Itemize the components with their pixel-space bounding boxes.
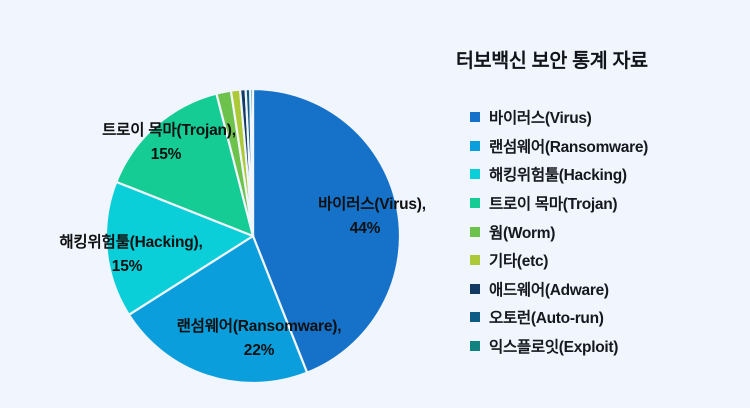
slice-label-ransomware-name: 랜섬웨어(Ransomware), — [177, 318, 342, 335]
legend-color-swatch — [470, 284, 480, 294]
slice-label-ransomware: 랜섬웨어(Ransomware), 22% — [160, 315, 358, 363]
slice-label-ransomware-percent: 22% — [160, 339, 358, 363]
slice-label-trojan-percent: 15% — [82, 143, 256, 167]
slice-label-virus: 바이러스(Virus), 44% — [306, 193, 438, 241]
pie-chart-area: 바이러스(Virus), 44% 랜섬웨어(Ransomware), 22% 해… — [0, 0, 440, 408]
legend-item-label: 웜(Worm) — [489, 221, 555, 243]
legend-item-label: 트로이 목마(Trojan) — [489, 192, 617, 214]
legend-item-label: 오토런(Auto-run) — [489, 306, 604, 328]
legend-item[interactable]: 바이러스(Virus) — [470, 103, 750, 132]
legend-item[interactable]: 트로이 목마(Trojan) — [470, 189, 750, 218]
legend-color-swatch — [470, 312, 480, 322]
legend-color-swatch — [470, 112, 480, 122]
legend-color-swatch — [470, 141, 480, 151]
chart-canvas: 바이러스(Virus), 44% 랜섬웨어(Ransomware), 22% 해… — [0, 0, 750, 408]
legend-color-swatch — [470, 169, 480, 179]
page-title: 터보백신 보안 통계 자료 — [456, 44, 648, 73]
legend-item-label: 기타(etc) — [489, 249, 548, 271]
legend-item-label: 해킹위험툴(Hacking) — [489, 163, 627, 185]
slice-label-hacking-percent: 15% — [36, 255, 226, 279]
legend-item[interactable]: 기타(etc) — [470, 246, 750, 275]
right-panel: 터보백신 보안 통계 자료 바이러스(Virus)랜섬웨어(Ransomware… — [440, 0, 750, 408]
slice-label-trojan: 트로이 목마(Trojan), 15% — [82, 119, 256, 167]
legend-color-swatch — [470, 227, 480, 237]
legend-item-label: 랜섬웨어(Ransomware) — [489, 135, 648, 157]
legend-color-swatch — [470, 198, 480, 208]
slice-label-trojan-name: 트로이 목마(Trojan), — [102, 122, 236, 139]
slice-label-virus-percent: 44% — [306, 217, 438, 241]
legend-item[interactable]: 오토런(Auto-run) — [470, 303, 750, 332]
legend-item-label: 바이러스(Virus) — [489, 106, 592, 128]
legend-color-swatch — [470, 255, 480, 265]
slice-label-hacking: 해킹위험툴(Hacking), 15% — [36, 231, 226, 279]
slice-label-hacking-name: 해킹위험툴(Hacking), — [59, 234, 202, 251]
legend-item[interactable]: 애드웨어(Adware) — [470, 275, 750, 304]
legend-item-label: 익스플로잇(Exploit) — [489, 335, 618, 357]
chart-legend: 바이러스(Virus)랜섬웨어(Ransomware)해킹위험툴(Hacking… — [470, 103, 750, 360]
legend-item[interactable]: 익스플로잇(Exploit) — [470, 332, 750, 361]
legend-item[interactable]: 해킹위험툴(Hacking) — [470, 160, 750, 189]
slice-label-virus-name: 바이러스(Virus), — [318, 196, 426, 213]
legend-item[interactable]: 랜섬웨어(Ransomware) — [470, 132, 750, 161]
legend-item-label: 애드웨어(Adware) — [489, 278, 609, 300]
legend-color-swatch — [470, 341, 480, 351]
legend-item[interactable]: 웜(Worm) — [470, 217, 750, 246]
